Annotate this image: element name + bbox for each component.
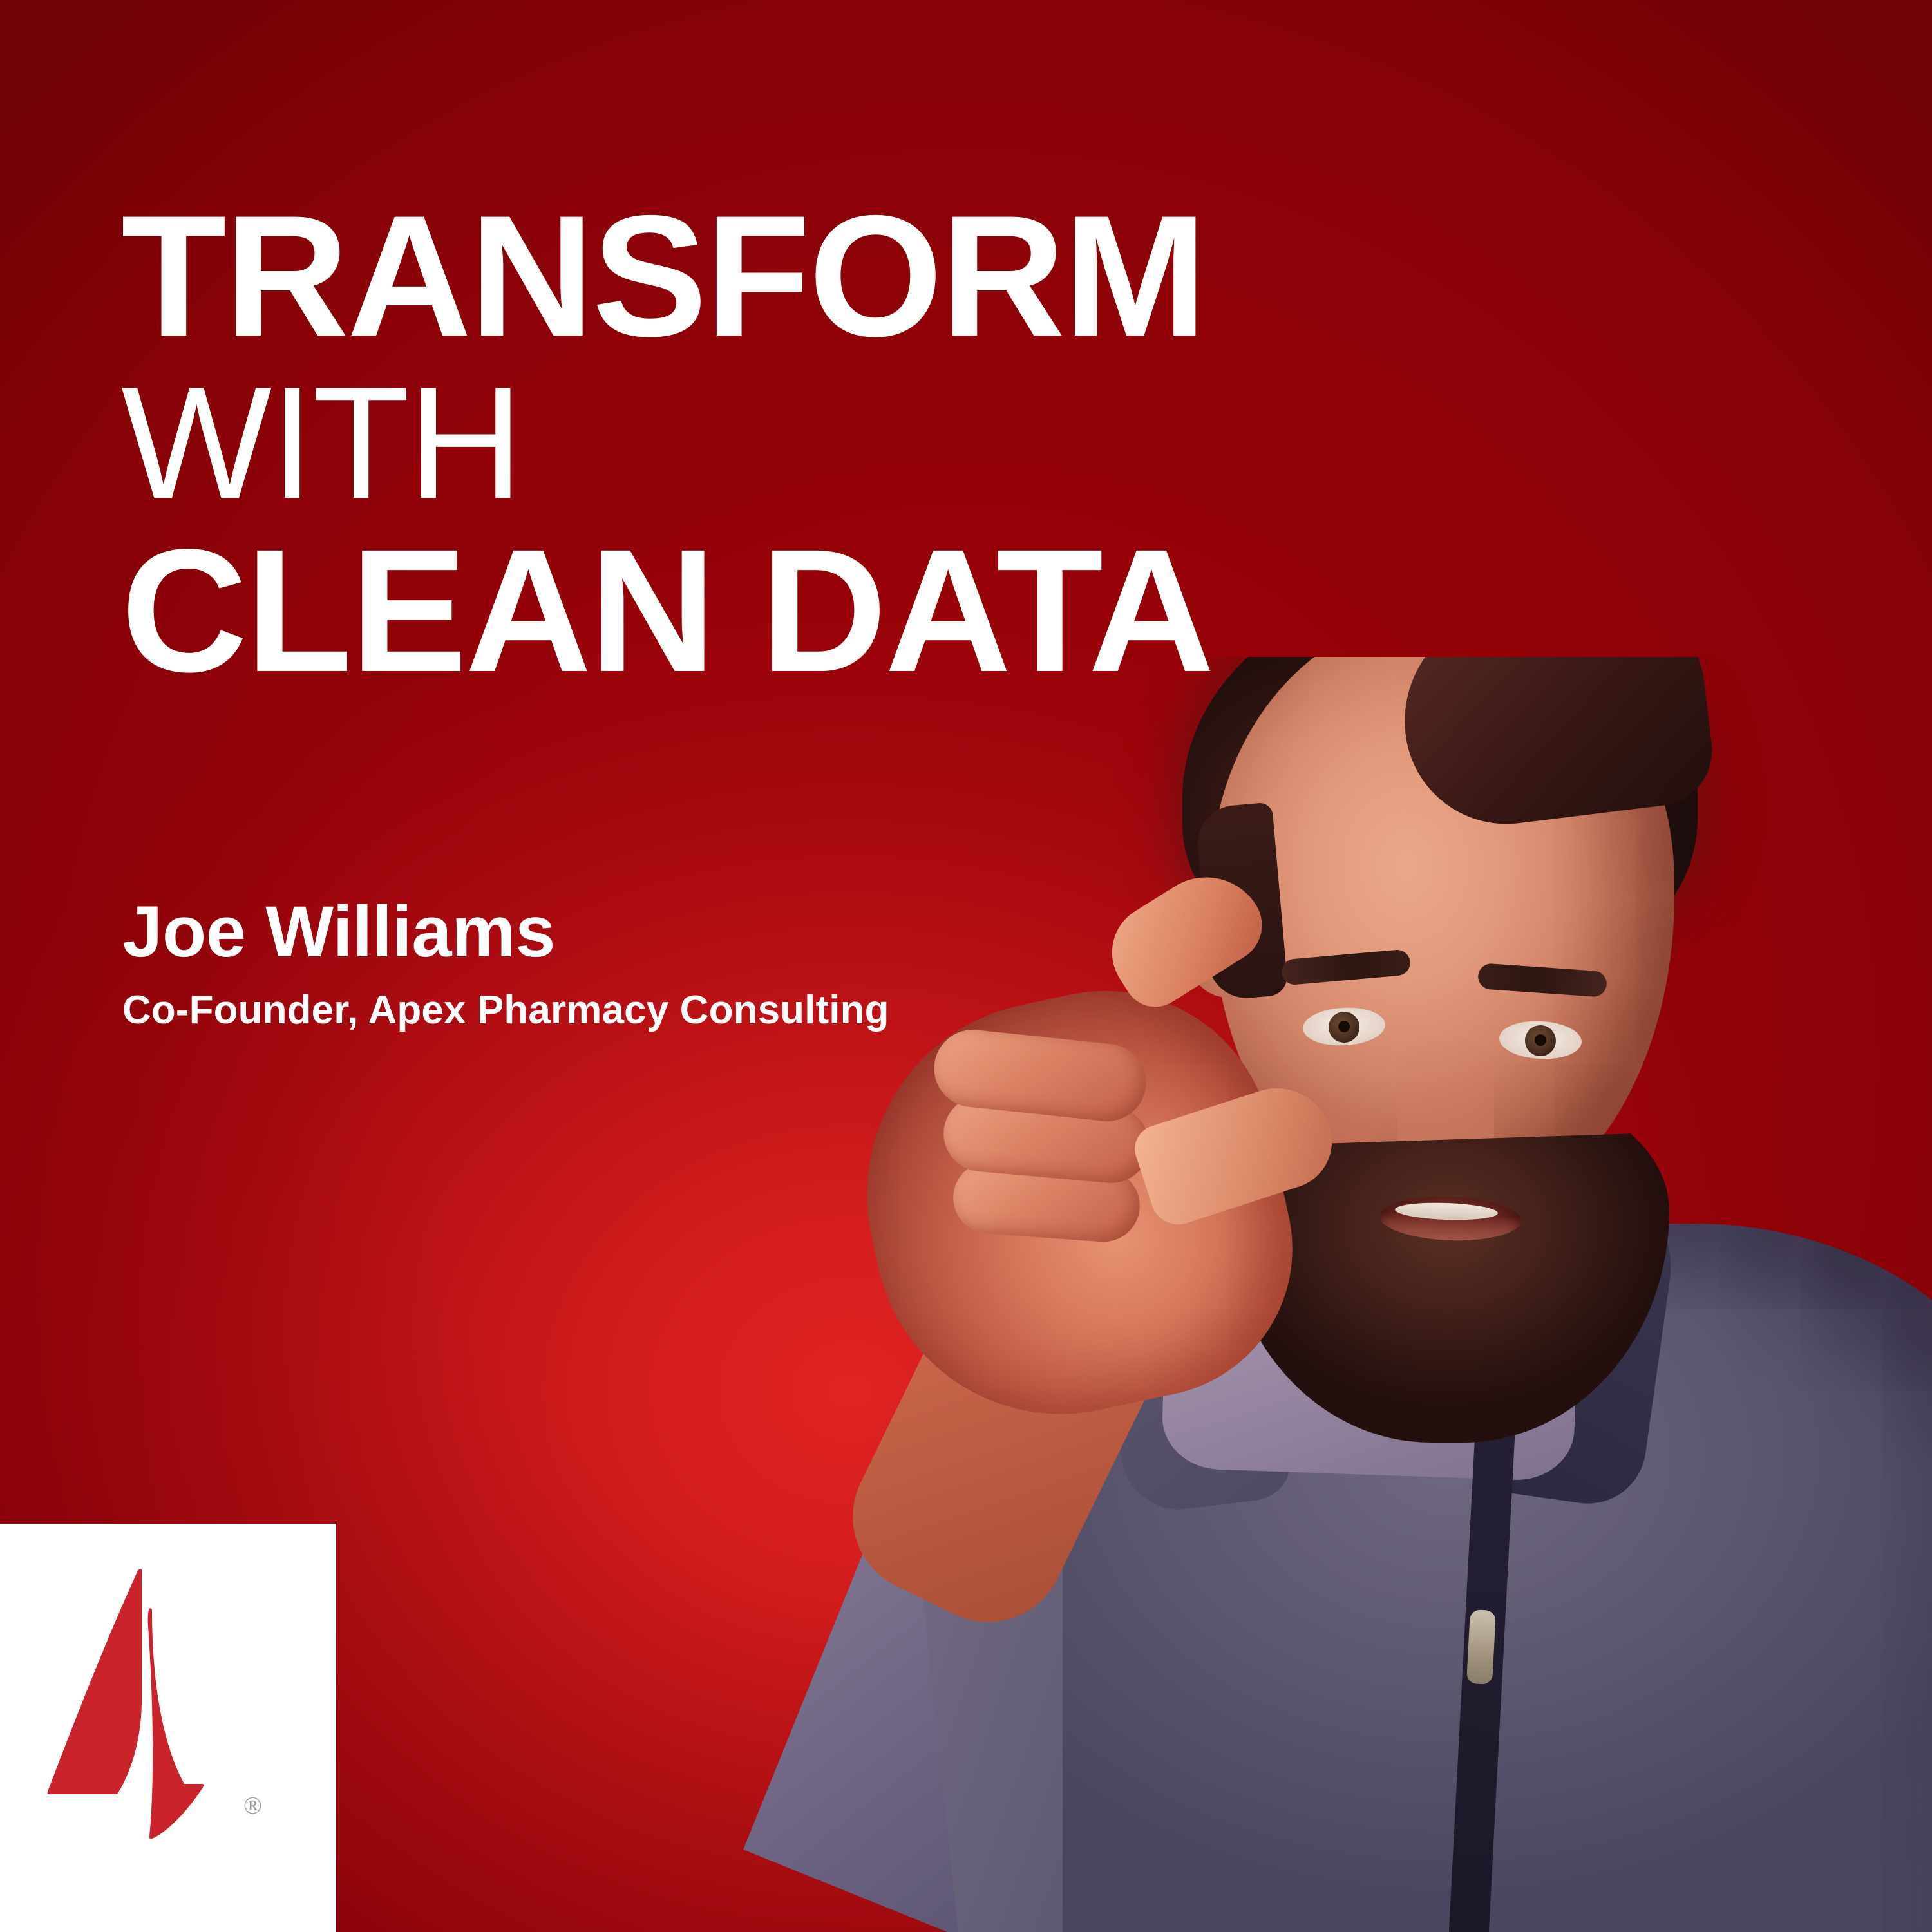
speaker-block: Joe Williams Co-Founder, Apex Pharmacy C…: [122, 895, 889, 1031]
headline-line-2: WITH: [121, 363, 1473, 522]
registered-trademark-icon: ®: [243, 1793, 269, 1819]
speaker-name: Joe Williams: [122, 895, 889, 969]
speaker-role: Co-Founder, Apex Pharmacy Consulting: [122, 989, 889, 1031]
brand-logo-badge: ®: [0, 1524, 336, 1932]
headline-block: TRANSFORM WITH CLEAN DATA: [121, 193, 1473, 697]
iris-right: [1524, 1025, 1557, 1057]
podcast-cover-canvas: TRANSFORM WITH CLEAN DATA Joe Williams C…: [0, 0, 1932, 1932]
headline-line-3: CLEAN DATA: [121, 525, 1473, 697]
sailboat-icon: [45, 1569, 238, 1839]
iris-left: [1328, 1011, 1360, 1043]
zipper-pull: [1466, 1609, 1496, 1685]
speaker-portrait: [721, 657, 1932, 1932]
headline-line-1: TRANSFORM: [121, 193, 1473, 359]
